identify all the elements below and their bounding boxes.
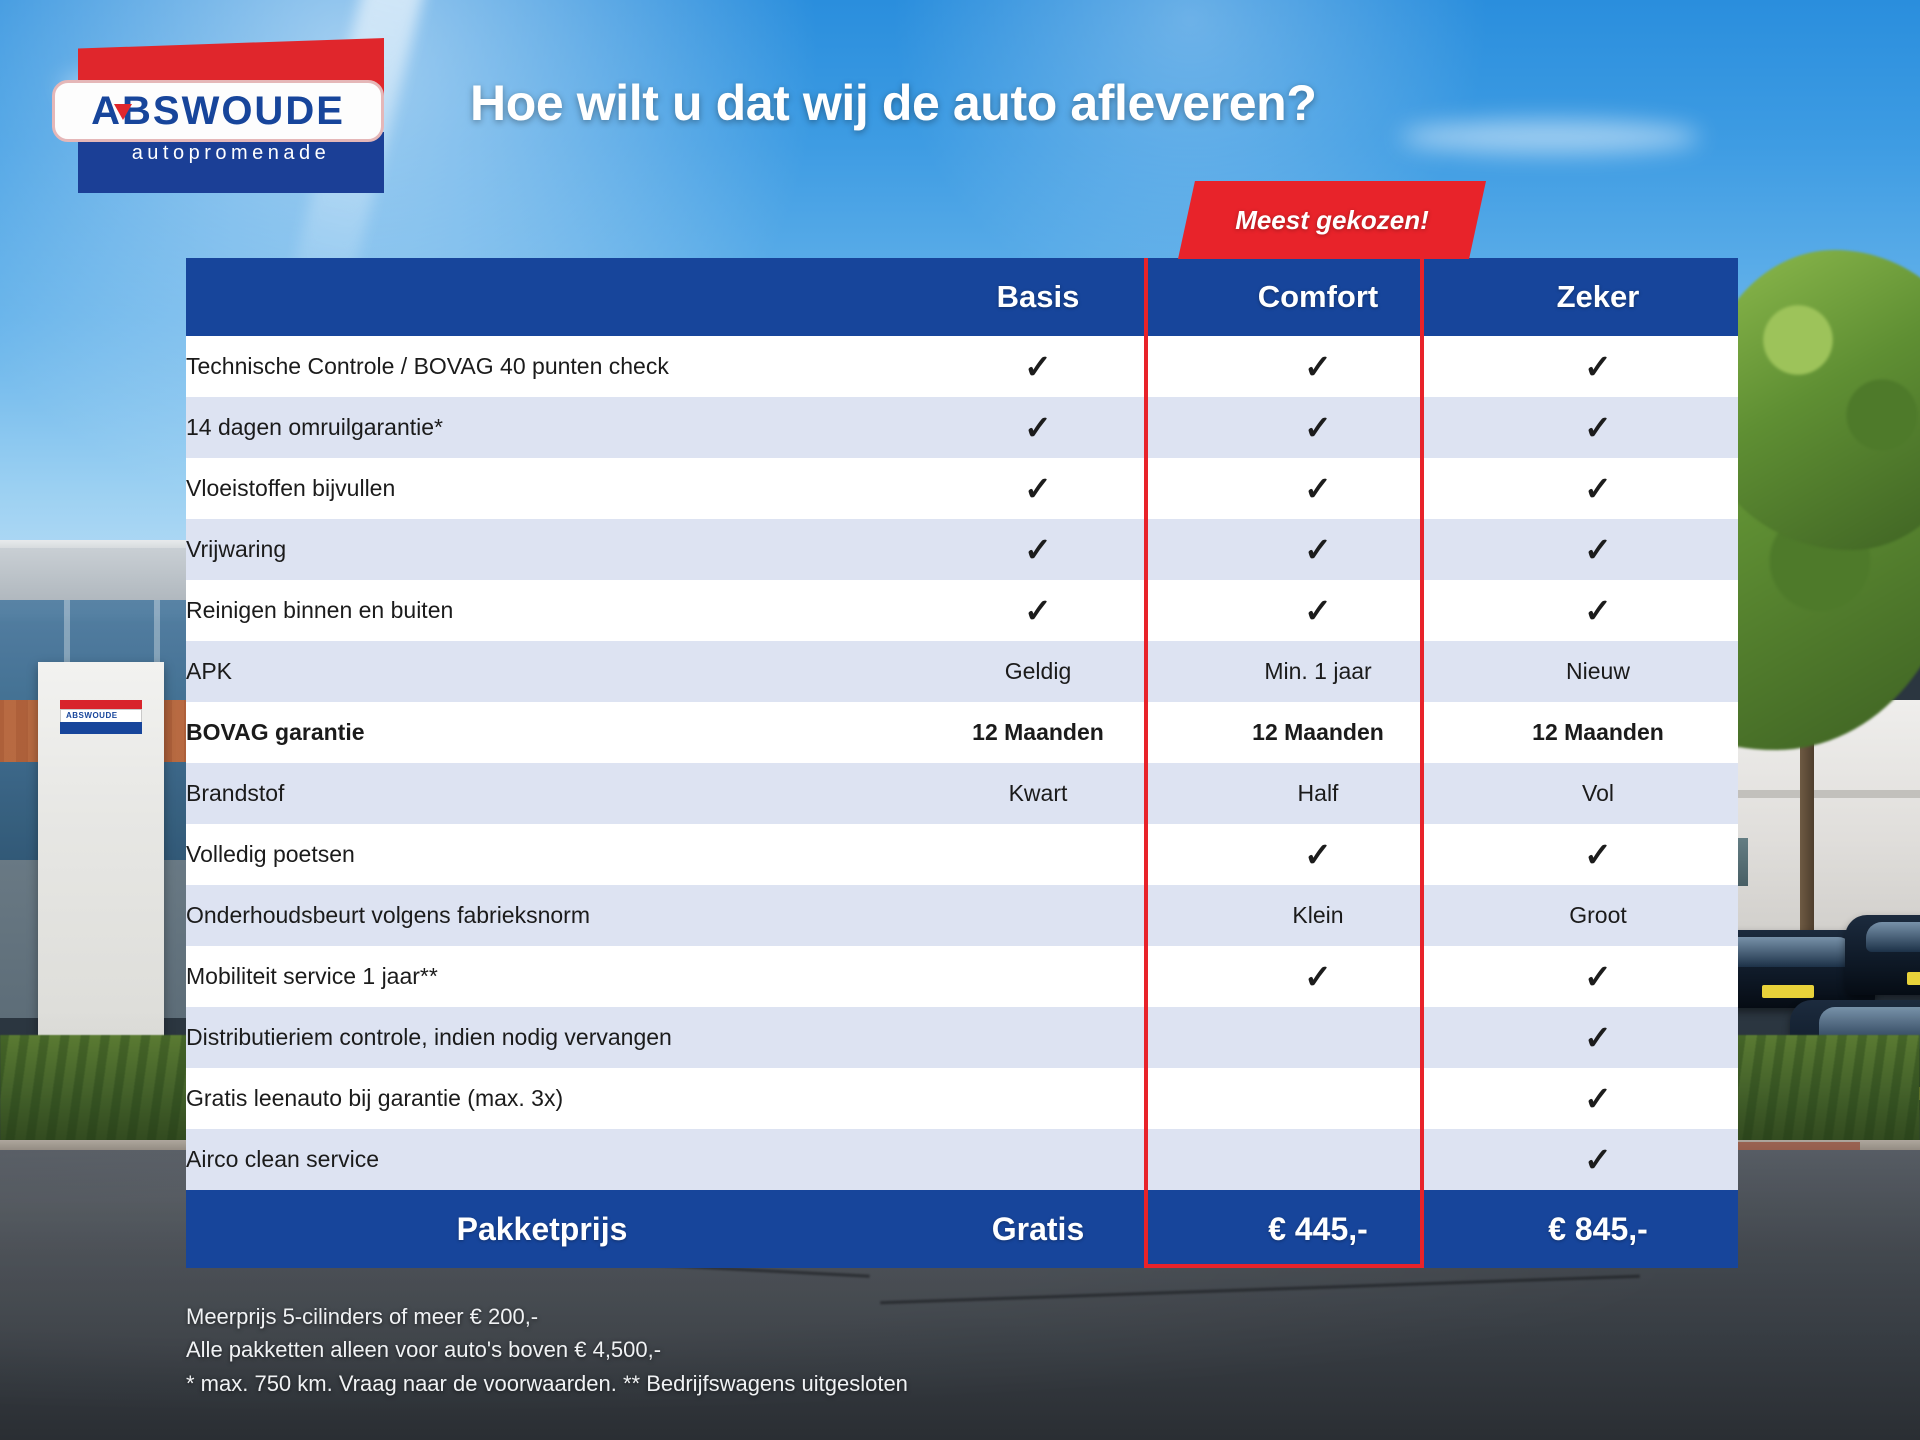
value-comfort: [1178, 1068, 1458, 1129]
check-icon-comfort: ✓: [1178, 519, 1458, 580]
check-icon-zeker: ✓: [1458, 1007, 1738, 1068]
feature-label: Technische Controle / BOVAG 40 punten ch…: [186, 336, 898, 397]
check-icon-zeker: ✓: [1458, 946, 1738, 1007]
check-icon-zeker: ✓: [1458, 1068, 1738, 1129]
table-row: 14 dagen omruilgarantie*✓✓✓: [186, 397, 1738, 458]
table-row: Airco clean service✓: [186, 1129, 1738, 1190]
most-chosen-ribbon-label: Meest gekozen!: [1235, 205, 1429, 236]
value-basis: [898, 885, 1178, 946]
feature-label: Vloeistoffen bijvullen: [186, 458, 898, 519]
feature-label: BOVAG garantie: [186, 702, 898, 763]
check-icon-zeker: ✓: [1458, 1129, 1738, 1190]
value-basis: [898, 1068, 1178, 1129]
check-icon-basis: ✓: [898, 397, 1178, 458]
check-icon-zeker: ✓: [1458, 458, 1738, 519]
header-plan-zeker[interactable]: Zeker: [1458, 258, 1738, 336]
value-comfort: Min. 1 jaar: [1178, 641, 1458, 702]
footnote-line-3: * max. 750 km. Vraag naar de voorwaarden…: [186, 1367, 1386, 1400]
check-icon: ✓: [1024, 470, 1052, 507]
check-icon-basis: ✓: [898, 458, 1178, 519]
feature-label: Airco clean service: [186, 1129, 898, 1190]
value-comfort: Half: [1178, 763, 1458, 824]
value-basis: [898, 946, 1178, 1007]
abswoude-logo[interactable]: ABSWOUDE autopromenade: [52, 38, 384, 193]
check-icon: ✓: [1584, 836, 1612, 873]
table-row: Mobiliteit service 1 jaar**✓✓: [186, 946, 1738, 1007]
value-zeker: Nieuw: [1458, 641, 1738, 702]
feature-label: Brandstof: [186, 763, 898, 824]
table-row: APKGeldigMin. 1 jaarNieuw: [186, 641, 1738, 702]
check-icon-comfort: ✓: [1178, 397, 1458, 458]
footnote-line-1: Meerprijs 5-cilinders of meer € 200,-: [186, 1300, 1386, 1333]
value-zeker: Groot: [1458, 885, 1738, 946]
check-icon: ✓: [1304, 958, 1332, 995]
check-icon-basis: ✓: [898, 519, 1178, 580]
value-basis: [898, 824, 1178, 885]
feature-label: Gratis leenauto bij garantie (max. 3x): [186, 1068, 898, 1129]
table-row: BrandstofKwartHalfVol: [186, 763, 1738, 824]
logo-tagline: autopromenade: [78, 142, 384, 165]
check-icon: ✓: [1304, 470, 1332, 507]
table-body: Technische Controle / BOVAG 40 punten ch…: [186, 336, 1738, 1190]
check-icon: ✓: [1584, 531, 1612, 568]
check-icon: ✓: [1584, 1080, 1612, 1117]
value-comfort: Klein: [1178, 885, 1458, 946]
check-icon: ✓: [1584, 409, 1612, 446]
value-basis: Kwart: [898, 763, 1178, 824]
value-comfort: [1178, 1129, 1458, 1190]
table-header-row: Basis Comfort Zeker: [186, 258, 1738, 336]
value-zeker: Vol: [1458, 763, 1738, 824]
header-plan-comfort[interactable]: Comfort: [1178, 258, 1458, 336]
check-icon: ✓: [1024, 348, 1052, 385]
logo-triangle-icon: [114, 104, 132, 120]
table-row: Distributieriem controle, indien nodig v…: [186, 1007, 1738, 1068]
feature-label: Reinigen binnen en buiten: [186, 580, 898, 641]
check-icon-comfort: ✓: [1178, 946, 1458, 1007]
most-chosen-ribbon: Meest gekozen!: [1178, 181, 1486, 259]
check-icon: ✓: [1584, 1019, 1612, 1056]
value-basis: [898, 1129, 1178, 1190]
table-footer: Pakketprijs Gratis € 445,- € 845,-: [186, 1190, 1738, 1268]
check-icon-zeker: ✓: [1458, 519, 1738, 580]
table-row: Onderhoudsbeurt volgens fabrieksnormKlei…: [186, 885, 1738, 946]
feature-label: APK: [186, 641, 898, 702]
table-header: Basis Comfort Zeker: [186, 258, 1738, 336]
table-row: Volledig poetsen✓✓: [186, 824, 1738, 885]
check-icon: ✓: [1304, 409, 1332, 446]
check-icon: ✓: [1584, 348, 1612, 385]
feature-label: Mobiliteit service 1 jaar**: [186, 946, 898, 1007]
check-icon-zeker: ✓: [1458, 824, 1738, 885]
footnote-line-2: Alle pakketten alleen voor auto's boven …: [186, 1333, 1386, 1366]
feature-label: Distributieriem controle, indien nodig v…: [186, 1007, 898, 1068]
check-icon: ✓: [1304, 836, 1332, 873]
feature-label: Onderhoudsbeurt volgens fabrieksnorm: [186, 885, 898, 946]
check-icon-comfort: ✓: [1178, 336, 1458, 397]
value-comfort: [1178, 1007, 1458, 1068]
price-row: Pakketprijs Gratis € 445,- € 845,-: [186, 1190, 1738, 1268]
table-row: Reinigen binnen en buiten✓✓✓: [186, 580, 1738, 641]
price-row-label: Pakketprijs: [186, 1190, 898, 1268]
feature-label: 14 dagen omruilgarantie*: [186, 397, 898, 458]
page-title: Hoe wilt u dat wij de auto afleveren?: [470, 74, 1770, 132]
check-icon: ✓: [1304, 531, 1332, 568]
feature-label: Volledig poetsen: [186, 824, 898, 885]
check-icon-basis: ✓: [898, 336, 1178, 397]
check-icon-comfort: ✓: [1178, 824, 1458, 885]
table-row: Gratis leenauto bij garantie (max. 3x)✓: [186, 1068, 1738, 1129]
check-icon-zeker: ✓: [1458, 397, 1738, 458]
table-row: BOVAG garantie12 Maanden12 Maanden12 Maa…: [186, 702, 1738, 763]
check-icon-comfort: ✓: [1178, 580, 1458, 641]
table-row: Technische Controle / BOVAG 40 punten ch…: [186, 336, 1738, 397]
table-row: Vloeistoffen bijvullen✓✓✓: [186, 458, 1738, 519]
check-icon: ✓: [1584, 470, 1612, 507]
price-basis: Gratis: [898, 1190, 1178, 1268]
check-icon: ✓: [1584, 958, 1612, 995]
check-icon: ✓: [1304, 592, 1332, 629]
check-icon-comfort: ✓: [1178, 458, 1458, 519]
check-icon-zeker: ✓: [1458, 336, 1738, 397]
value-basis: 12 Maanden: [898, 702, 1178, 763]
check-icon-basis: ✓: [898, 580, 1178, 641]
table-row: Vrijwaring✓✓✓: [186, 519, 1738, 580]
check-icon: ✓: [1024, 531, 1052, 568]
header-feature-column: [186, 258, 898, 336]
logo-plate: ABSWOUDE: [52, 80, 384, 142]
value-zeker: 12 Maanden: [1458, 702, 1738, 763]
price-comfort: € 445,-: [1178, 1190, 1458, 1268]
price-zeker: € 845,-: [1458, 1190, 1738, 1268]
check-icon-zeker: ✓: [1458, 580, 1738, 641]
check-icon: ✓: [1304, 348, 1332, 385]
footnotes: Meerprijs 5-cilinders of meer € 200,- Al…: [186, 1300, 1386, 1400]
check-icon: ✓: [1584, 592, 1612, 629]
header-plan-basis[interactable]: Basis: [898, 258, 1178, 336]
check-icon: ✓: [1584, 1141, 1612, 1178]
value-basis: [898, 1007, 1178, 1068]
check-icon: ✓: [1024, 592, 1052, 629]
package-comparison-table: Basis Comfort Zeker Technische Controle …: [186, 258, 1738, 1268]
feature-label: Vrijwaring: [186, 519, 898, 580]
value-comfort: 12 Maanden: [1178, 702, 1458, 763]
check-icon: ✓: [1024, 409, 1052, 446]
value-basis: Geldig: [898, 641, 1178, 702]
